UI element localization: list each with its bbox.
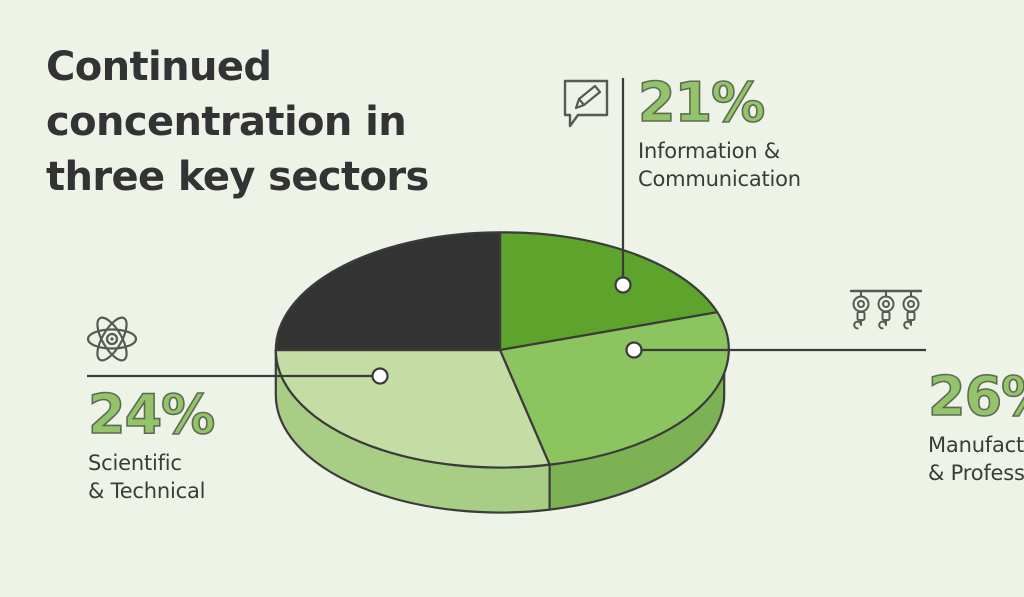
atom-icon [84,312,140,370]
connector-dot-manufacturing [627,343,642,358]
page-title-line-3: three key sectors [46,150,476,205]
callout-label-information-line-2: Communication [638,165,801,193]
connector-dot-scientific [373,369,388,384]
page-title-line-1: Continued [46,40,476,95]
callout-information-communication: 21% Information & Communication [638,76,801,193]
connector-dot-information [616,278,631,293]
page-title: Continued concentration in three key sec… [46,40,476,206]
speech-bubble-pencil-icon [562,78,610,134]
callout-label-scientific-line-1: Scientific [88,449,214,477]
callout-label-scientific-line-2: & Technical [88,477,214,505]
callout-percent-information: 21% [638,76,801,130]
callout-label-information-line-1: Information & [638,137,801,165]
callout-scientific-technical: 24% Scientific & Technical [88,388,214,505]
pie-slice-other[interactable] [276,232,500,350]
callout-percent-scientific: 24% [88,388,214,442]
infographic-canvas: Continued concentration in three key sec… [0,0,1024,597]
page-title-line-2: concentration in [46,95,476,150]
factory-hoists-icon [848,286,924,340]
